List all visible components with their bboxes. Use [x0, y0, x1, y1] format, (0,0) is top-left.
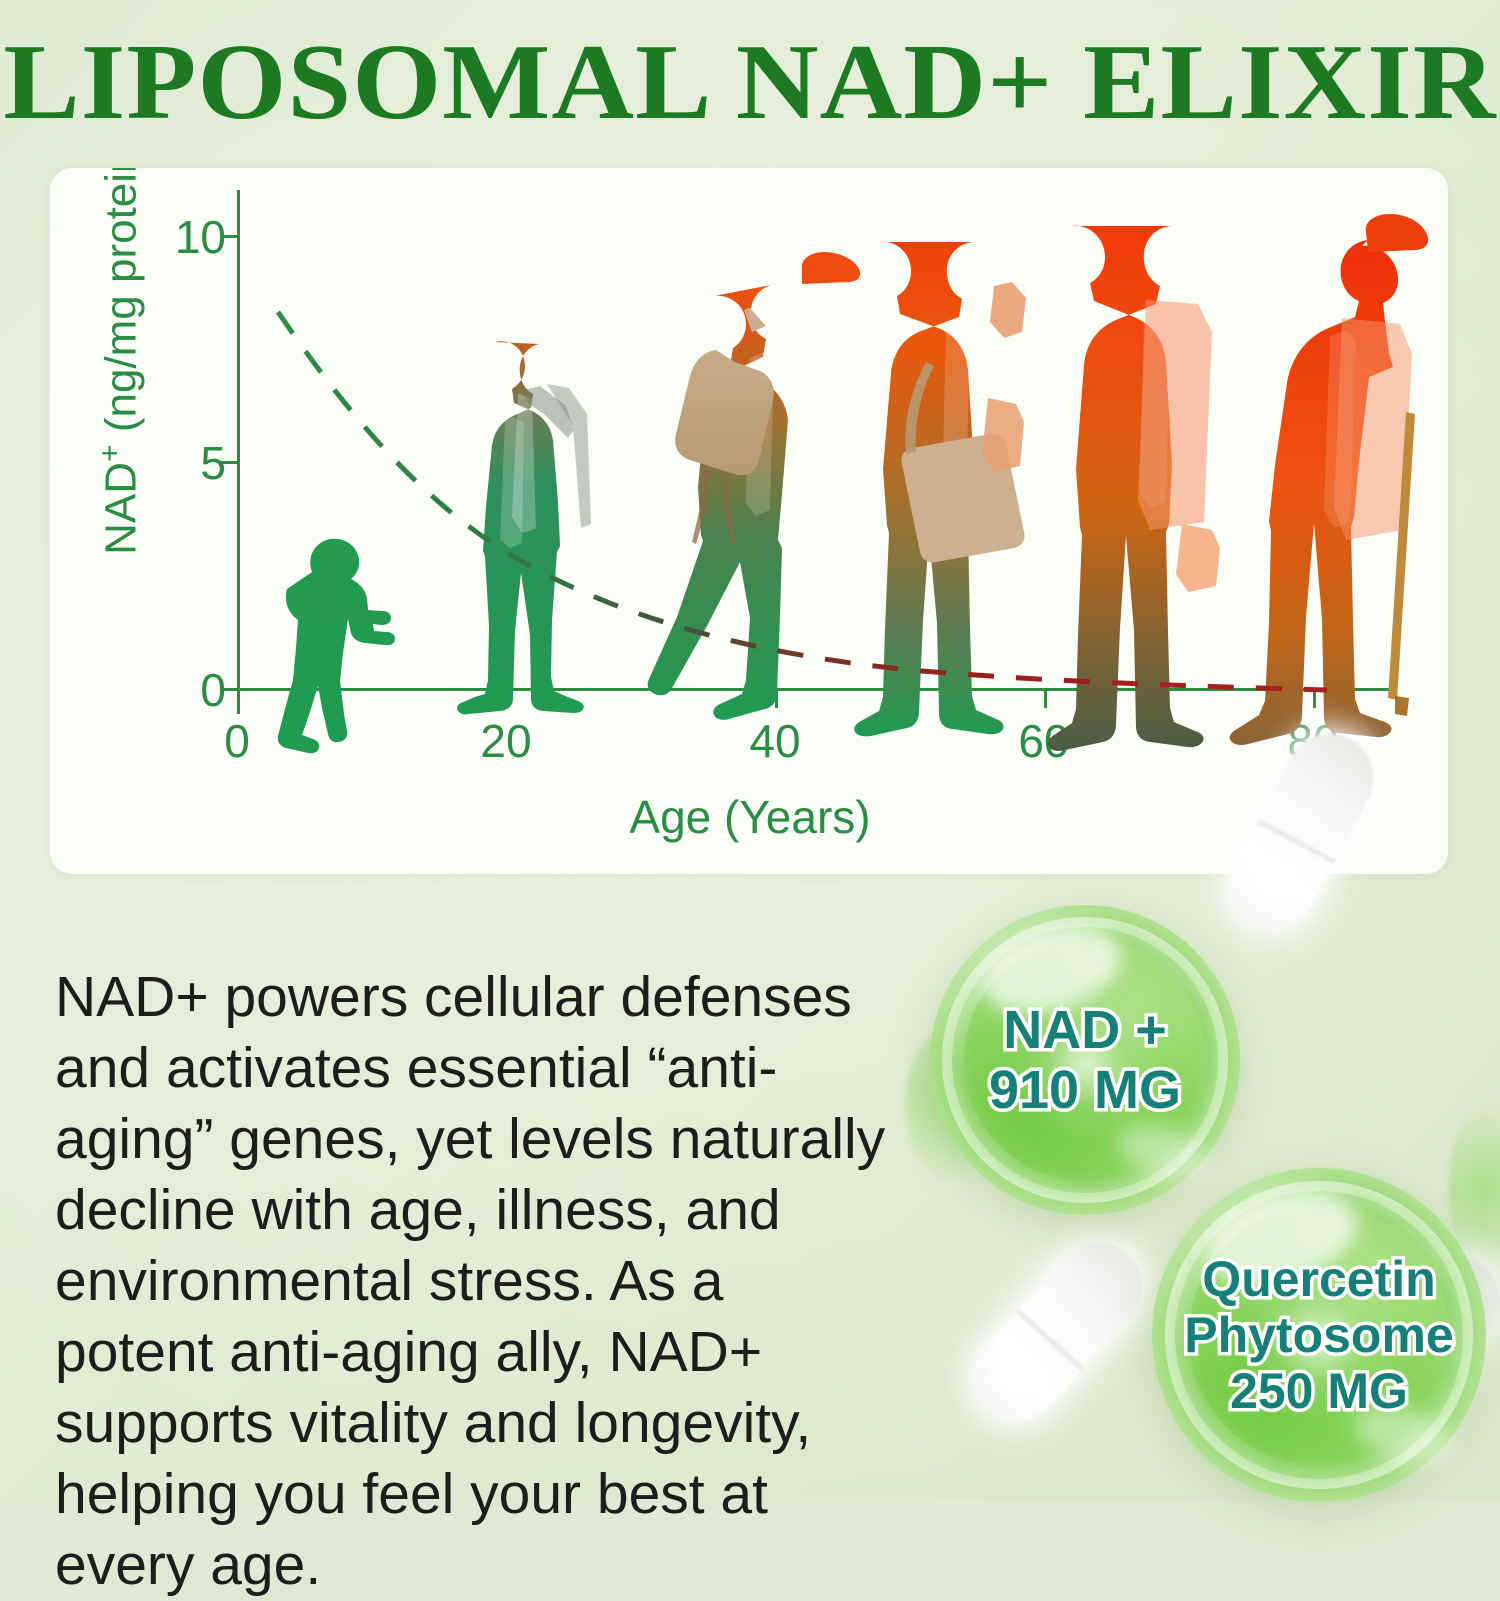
quercetin-bubble-line-1: Quercetin [1202, 1251, 1435, 1307]
quercetin-bubble-line-2: Phytosome [1184, 1307, 1454, 1363]
quercetin-bubble-text: Quercetin Phytosome 250 MG [1152, 1168, 1486, 1502]
nad-bubble-line-1: NAD + [1003, 1000, 1167, 1060]
capsule-seam [1256, 818, 1336, 864]
quercetin-bubble-line-3: 250 MG [1230, 1363, 1408, 1419]
page-title: LIPOSOMAL NAD+ ELIXIR [0, 28, 1500, 138]
quercetin-bubble: Quercetin Phytosome 250 MG [1152, 1168, 1486, 1502]
capsule-seam [1016, 1308, 1085, 1371]
body-paragraph: NAD+ powers cellular defenses and activa… [55, 962, 895, 1601]
nad-decline-curve [50, 168, 1448, 874]
chart-card: 10 5 0 0 20 40 60 80 NAD+ (ng/mg protein… [50, 168, 1448, 874]
nad-bubble-line-2: 910 MG [989, 1060, 1181, 1120]
